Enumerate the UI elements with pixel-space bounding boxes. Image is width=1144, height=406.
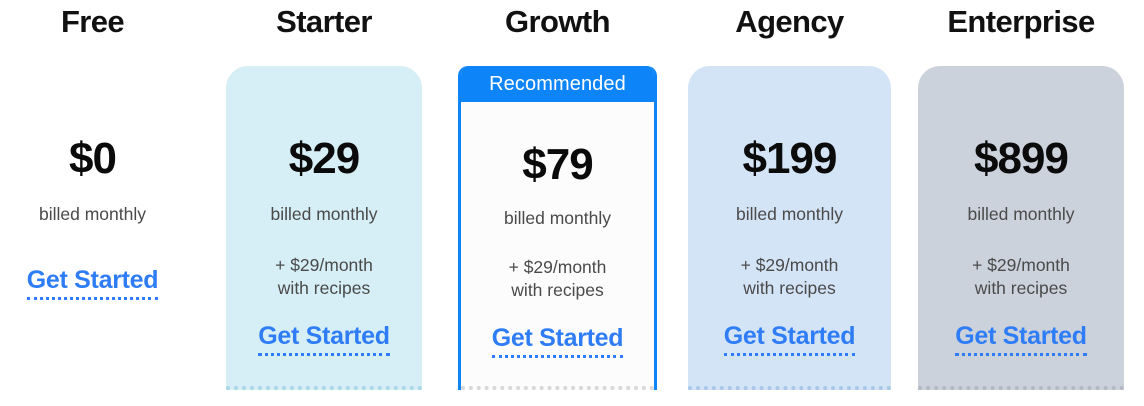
plan-column-enterprise: Enterprise $899 billed monthly + $29/mon… [918, 0, 1124, 406]
card-bottom-rule-starter [226, 386, 422, 390]
plan-addon-enterprise: + $29/month with recipes [918, 254, 1124, 300]
plan-billing-free: billed monthly [0, 204, 185, 225]
plan-billing-growth: billed monthly [458, 208, 657, 229]
plan-addon-line1-growth: + $29/month [458, 256, 657, 279]
get-started-link-free[interactable]: Get Started [27, 266, 158, 300]
plan-card-free [0, 66, 185, 390]
recommended-badge: Recommended [461, 66, 654, 102]
plan-addon-line2-starter: with recipes [226, 277, 422, 300]
plan-addon-line1-starter: + $29/month [226, 254, 422, 277]
get-started-link-enterprise[interactable]: Get Started [955, 322, 1086, 356]
get-started-link-agency[interactable]: Get Started [724, 322, 855, 356]
plan-addon-line2-growth: with recipes [458, 279, 657, 302]
plan-price-starter: $29 [226, 134, 422, 184]
plan-billing-starter: billed monthly [226, 204, 422, 225]
plan-cta-free: Get Started [0, 266, 185, 300]
get-started-link-starter[interactable]: Get Started [258, 322, 389, 356]
plan-billing-agency: billed monthly [688, 204, 891, 225]
plan-title-growth: Growth [458, 0, 657, 50]
pricing-table: Free $0 billed monthly Get Started Start… [0, 0, 1144, 406]
plan-column-starter: Starter $29 billed monthly + $29/month w… [226, 0, 422, 406]
plan-title-agency: Agency [688, 0, 891, 50]
plan-addon-line2-agency: with recipes [688, 277, 891, 300]
plan-billing-enterprise: billed monthly [918, 204, 1124, 225]
get-started-link-growth[interactable]: Get Started [492, 324, 623, 358]
plan-addon-line2-enterprise: with recipes [918, 277, 1124, 300]
plan-addon-line1-agency: + $29/month [688, 254, 891, 277]
plan-addon-starter: + $29/month with recipes [226, 254, 422, 300]
plan-cta-agency: Get Started [688, 322, 891, 356]
card-bottom-rule-enterprise [918, 386, 1124, 390]
plan-title-free: Free [0, 0, 185, 50]
card-bottom-rule-agency [688, 386, 891, 390]
plan-column-growth: Growth Recommended $79 billed monthly + … [458, 0, 657, 406]
plan-cta-starter: Get Started [226, 322, 422, 356]
plan-column-free: Free $0 billed monthly Get Started [0, 0, 185, 406]
plan-addon-agency: + $29/month with recipes [688, 254, 891, 300]
plan-addon-growth: + $29/month with recipes [458, 256, 657, 302]
plan-cta-growth: Get Started [458, 324, 657, 358]
plan-column-agency: Agency $199 billed monthly + $29/month w… [688, 0, 891, 406]
plan-cta-enterprise: Get Started [918, 322, 1124, 356]
plan-price-growth: $79 [458, 140, 657, 190]
card-bottom-rule-growth [461, 386, 654, 390]
plan-title-enterprise: Enterprise [918, 0, 1124, 50]
plan-title-starter: Starter [226, 0, 422, 50]
plan-price-agency: $199 [688, 134, 891, 184]
plan-addon-line1-enterprise: + $29/month [918, 254, 1124, 277]
plan-price-enterprise: $899 [918, 134, 1124, 184]
plan-price-free: $0 [0, 134, 185, 184]
